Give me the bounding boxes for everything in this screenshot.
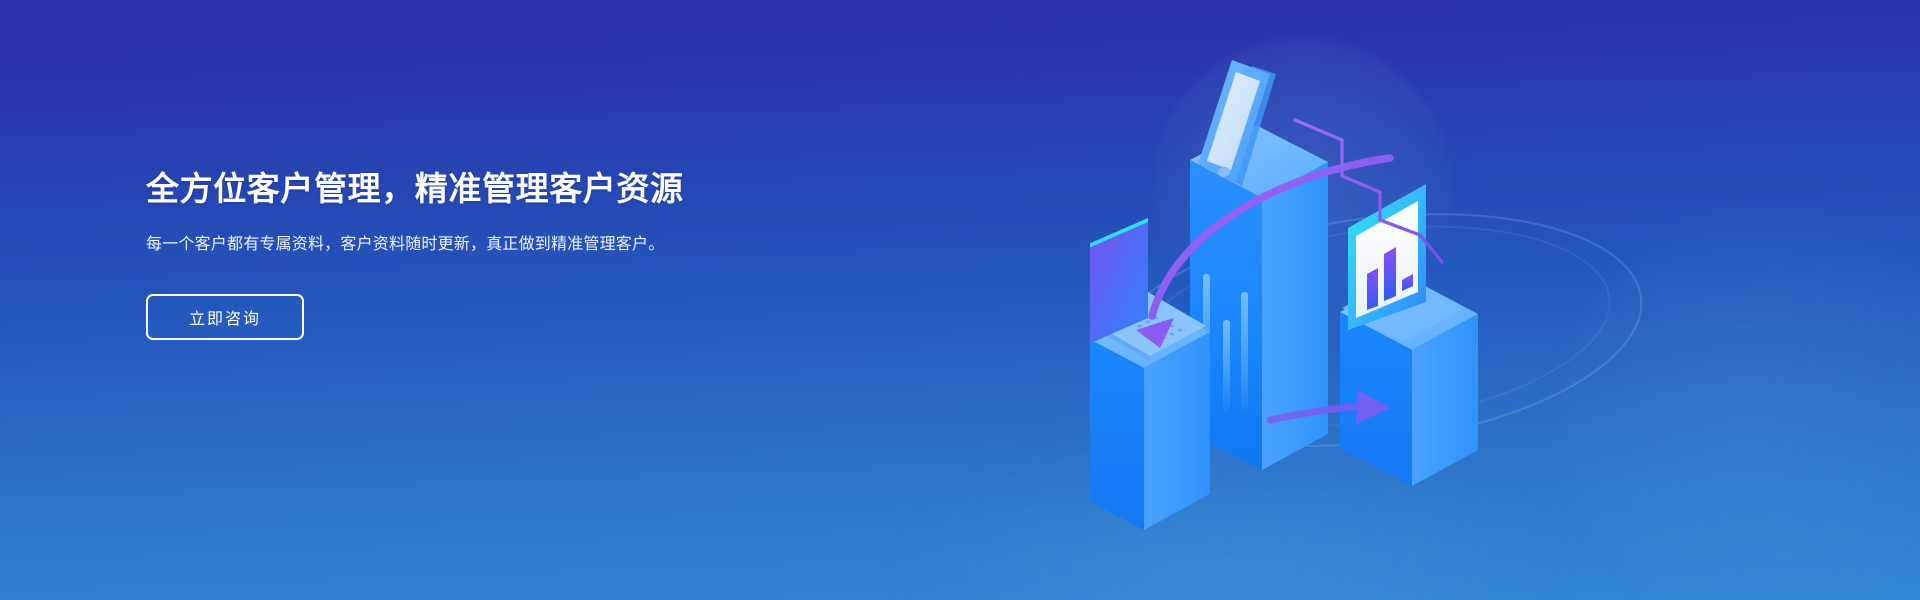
- hero-copy-block: 全方位客户管理，精准管理客户资源 每一个客户都有专属资料，客户资料随时更新，真正…: [146, 168, 786, 340]
- chart-bar: [1384, 247, 1396, 301]
- chart-bar: [1367, 268, 1378, 310]
- isometric-illustration-svg: [1090, 30, 1650, 570]
- hero-banner: 全方位客户管理，精准管理客户资源 每一个客户都有专属资料，客户资料随时更新，真正…: [0, 0, 1920, 600]
- page-title: 全方位客户管理，精准管理客户资源: [146, 168, 786, 210]
- monitor-device: [1342, 184, 1462, 342]
- hero-subtitle: 每一个客户都有专属资料，客户资料随时更新，真正做到精准管理客户。: [146, 232, 731, 258]
- consult-now-button[interactable]: 立即咨询: [146, 294, 304, 340]
- hero-illustration: [1090, 30, 1650, 570]
- pillar-inner-bar: [1223, 320, 1230, 412]
- pillar-inner-bar: [1241, 292, 1248, 412]
